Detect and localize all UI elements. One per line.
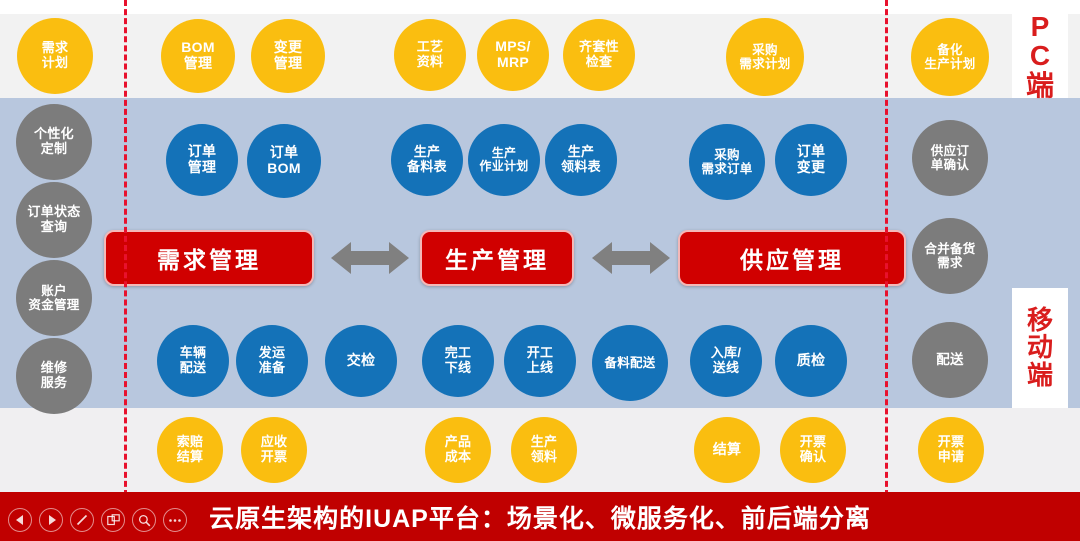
previous-slide-button[interactable] xyxy=(8,508,32,532)
node-label: 工艺资料 xyxy=(414,40,447,69)
right-boundary-dashed-line xyxy=(885,0,888,496)
node-vehicle-delivery[interactable]: 车辆配送 xyxy=(157,325,229,397)
node-invoice-application[interactable]: 开票申请 xyxy=(918,417,984,483)
node-label: 变更管理 xyxy=(271,40,306,71)
node-mps-mrp[interactable]: MPS/MRP xyxy=(477,19,549,91)
node-label: 维修服务 xyxy=(38,361,71,390)
label-mobile-char-2: 动 xyxy=(1027,334,1053,361)
node-order-change[interactable]: 订单变更 xyxy=(775,124,847,196)
node-quality-inspection[interactable]: 质检 xyxy=(775,325,847,397)
node-shipment-preparation[interactable]: 发运准备 xyxy=(236,325,308,397)
label-pc-side: P C 端 xyxy=(1012,14,1068,98)
left-boundary-dashed-line xyxy=(124,0,127,496)
node-merged-stock-demand[interactable]: 合并备货需求 xyxy=(912,218,988,294)
label-mobile-side: 移 动 端 xyxy=(1012,288,1068,408)
process-box-production-management[interactable]: 生产管理 xyxy=(420,230,574,286)
node-label: 账户资金管理 xyxy=(25,284,82,312)
node-bom-management[interactable]: BOM管理 xyxy=(161,19,235,93)
label-mobile-char-1: 移 xyxy=(1027,307,1053,334)
node-process-data[interactable]: 工艺资料 xyxy=(394,19,466,91)
node-label: 质检 xyxy=(794,353,829,369)
node-label: 生产领料 xyxy=(528,435,561,464)
node-prepared-production-plan[interactable]: 备化生产计划 xyxy=(911,18,989,96)
node-label: 应收开票 xyxy=(258,435,291,464)
node-label: 生产领料表 xyxy=(558,145,604,174)
pen-icon xyxy=(75,513,89,527)
node-supply-order-confirmation[interactable]: 供应订单确认 xyxy=(912,120,988,196)
node-invoice-confirmation[interactable]: 开票确认 xyxy=(780,417,846,483)
node-label: 备料配送 xyxy=(601,356,658,370)
pen-button[interactable] xyxy=(70,508,94,532)
node-production-schedule[interactable]: 生产作业计划 xyxy=(468,124,540,196)
node-production-pick-list[interactable]: 生产领料表 xyxy=(545,124,617,196)
node-product-cost[interactable]: 产品成本 xyxy=(425,417,491,483)
node-label: 订单变更 xyxy=(794,144,829,175)
process-box-demand-management[interactable]: 需求管理 xyxy=(104,230,314,286)
next-slide-button[interactable] xyxy=(39,508,63,532)
zoom-button[interactable] xyxy=(132,508,156,532)
arrow-production-to-supply xyxy=(592,238,670,283)
node-receivable-invoicing[interactable]: 应收开票 xyxy=(241,417,307,483)
node-label: 交检 xyxy=(344,353,379,369)
node-material-distribution[interactable]: 备料配送 xyxy=(592,325,668,401)
node-label: 索赔结算 xyxy=(174,435,207,464)
node-label: 产品成本 xyxy=(442,435,475,464)
node-production-prep-list[interactable]: 生产备料表 xyxy=(391,124,463,196)
arrow-demand-to-production xyxy=(331,238,409,283)
node-label: BOM管理 xyxy=(178,40,218,71)
node-label: 备化生产计划 xyxy=(921,43,978,71)
node-label: 需求计划 xyxy=(39,41,72,70)
node-label: 发运准备 xyxy=(256,346,289,375)
node-claim-settlement[interactable]: 索赔结算 xyxy=(157,417,223,483)
ellipsis-icon xyxy=(168,518,182,523)
node-label: 完工下线 xyxy=(442,346,475,375)
presentation-toolbar xyxy=(8,505,187,535)
node-order-status-query[interactable]: 订单状态查询 xyxy=(16,182,92,258)
node-label: 个性化定制 xyxy=(31,127,77,156)
node-account-fund-management[interactable]: 账户资金管理 xyxy=(16,260,92,336)
node-label: 齐套性检查 xyxy=(576,40,622,69)
node-label: 配送 xyxy=(933,352,967,367)
node-label: 订单状态查询 xyxy=(24,205,83,234)
node-demand-plan[interactable]: 需求计划 xyxy=(17,18,93,94)
node-label: 开工上线 xyxy=(524,346,557,375)
node-label: 合并备货需求 xyxy=(921,242,978,270)
label-pc-char-1: P xyxy=(1031,12,1050,41)
node-label: 采购需求计划 xyxy=(736,43,793,71)
node-completion-offline[interactable]: 完工下线 xyxy=(422,325,494,397)
node-label: 供应订单确认 xyxy=(928,144,972,172)
node-production-picking[interactable]: 生产领料 xyxy=(511,417,577,483)
node-personalized-customization[interactable]: 个性化定制 xyxy=(16,104,92,180)
label-pc-char-2: C xyxy=(1030,41,1050,70)
node-label: 订单管理 xyxy=(185,144,220,175)
node-kit-check[interactable]: 齐套性检查 xyxy=(563,19,635,91)
node-maintenance-service[interactable]: 维修服务 xyxy=(16,338,92,414)
node-settlement[interactable]: 结算 xyxy=(694,417,760,483)
label-pc-char-3: 端 xyxy=(1026,71,1054,100)
node-handover-inspection[interactable]: 交检 xyxy=(325,325,397,397)
node-label: 生产备料表 xyxy=(404,145,450,174)
node-order-management[interactable]: 订单管理 xyxy=(166,124,238,196)
node-change-management[interactable]: 变更管理 xyxy=(251,19,325,93)
node-delivery-supplier[interactable]: 配送 xyxy=(912,322,988,398)
node-label: 采购需求订单 xyxy=(698,148,755,176)
node-label: MPS/MRP xyxy=(492,39,533,70)
more-options-button[interactable] xyxy=(163,508,187,532)
node-label: 车辆配送 xyxy=(177,346,210,375)
node-purchase-demand-plan[interactable]: 采购需求计划 xyxy=(726,18,804,96)
banner-title: 云原生架构的IUAP平台：场景化、微服务化、前后端分离 xyxy=(209,499,871,535)
node-label: 开票申请 xyxy=(935,435,968,464)
node-label: 开票确认 xyxy=(797,435,830,464)
node-purchase-demand-order[interactable]: 采购需求订单 xyxy=(689,124,765,200)
node-start-online[interactable]: 开工上线 xyxy=(504,325,576,397)
triangle-left-icon xyxy=(16,515,25,525)
process-box-supply-management[interactable]: 供应管理 xyxy=(678,230,906,286)
top-white-margin xyxy=(0,0,1080,14)
slide-overview-button[interactable] xyxy=(101,508,125,532)
node-label: 订单BOM xyxy=(264,145,304,176)
grid-icon xyxy=(107,514,120,527)
node-warehouse-to-line[interactable]: 入库/送线 xyxy=(690,325,762,397)
triangle-right-icon xyxy=(47,515,56,525)
magnifier-icon xyxy=(138,514,151,527)
node-label: 结算 xyxy=(710,442,745,458)
presentation-slide: 需求计划 BOM管理 变更管理 工艺资料 MPS/MRP 齐套性检查 采购需求计… xyxy=(0,0,1080,541)
node-order-bom[interactable]: 订单BOM xyxy=(247,124,321,198)
node-label: 入库/送线 xyxy=(708,346,745,375)
label-mobile-char-3: 端 xyxy=(1027,362,1053,389)
node-label: 生产作业计划 xyxy=(476,147,531,174)
